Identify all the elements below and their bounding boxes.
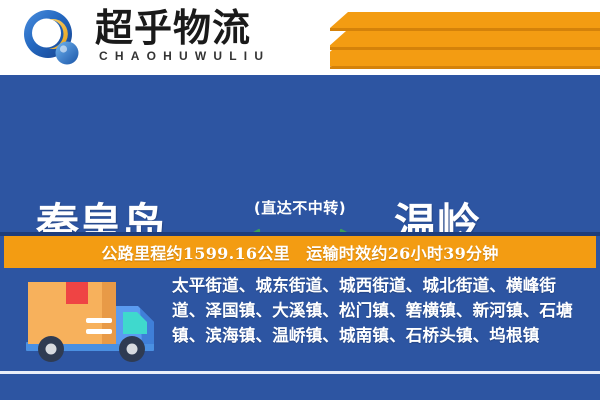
banner-header: 超乎物流 CHAOHUWULIU [0, 0, 600, 75]
distance-duration-text: 公路里程约1599.16公里 运输时效约26小时39分钟 [101, 240, 498, 264]
brand-name-pinyin: CHAOHUWULIU [99, 49, 270, 63]
footer-fill [0, 374, 600, 400]
distance-duration-bar: 公路里程约1599.16公里 运输时效约26小时39分钟 [4, 236, 596, 268]
route-panel: 秦皇岛 (直达不中转) 【往返运输】 温岭 [0, 75, 600, 232]
delivery-truck-icon [22, 276, 167, 368]
coverage-area-list: 太平街道、城东街道、城西街道、城北街道、横峰街道、泽国镇、大溪镇、松门镇、箬横镇… [172, 273, 587, 348]
circle-crescent-logo-icon [22, 8, 82, 68]
brand-name-chinese: 超乎物流 [95, 6, 251, 50]
orange-speed-stripes-icon [330, 8, 600, 70]
direct-route-note: (直达不中转) [0, 197, 600, 218]
logistics-route-banner: 超乎物流 CHAOHUWULIU 秦皇岛 (直达不中转) [0, 0, 600, 400]
info-bar-container: 公路里程约1599.16公里 运输时效约26小时39分钟 [0, 232, 600, 268]
coverage-section: 太平街道、城东街道、城西街道、城北街道、横峰街道、泽国镇、大溪镇、松门镇、箬横镇… [0, 268, 600, 372]
